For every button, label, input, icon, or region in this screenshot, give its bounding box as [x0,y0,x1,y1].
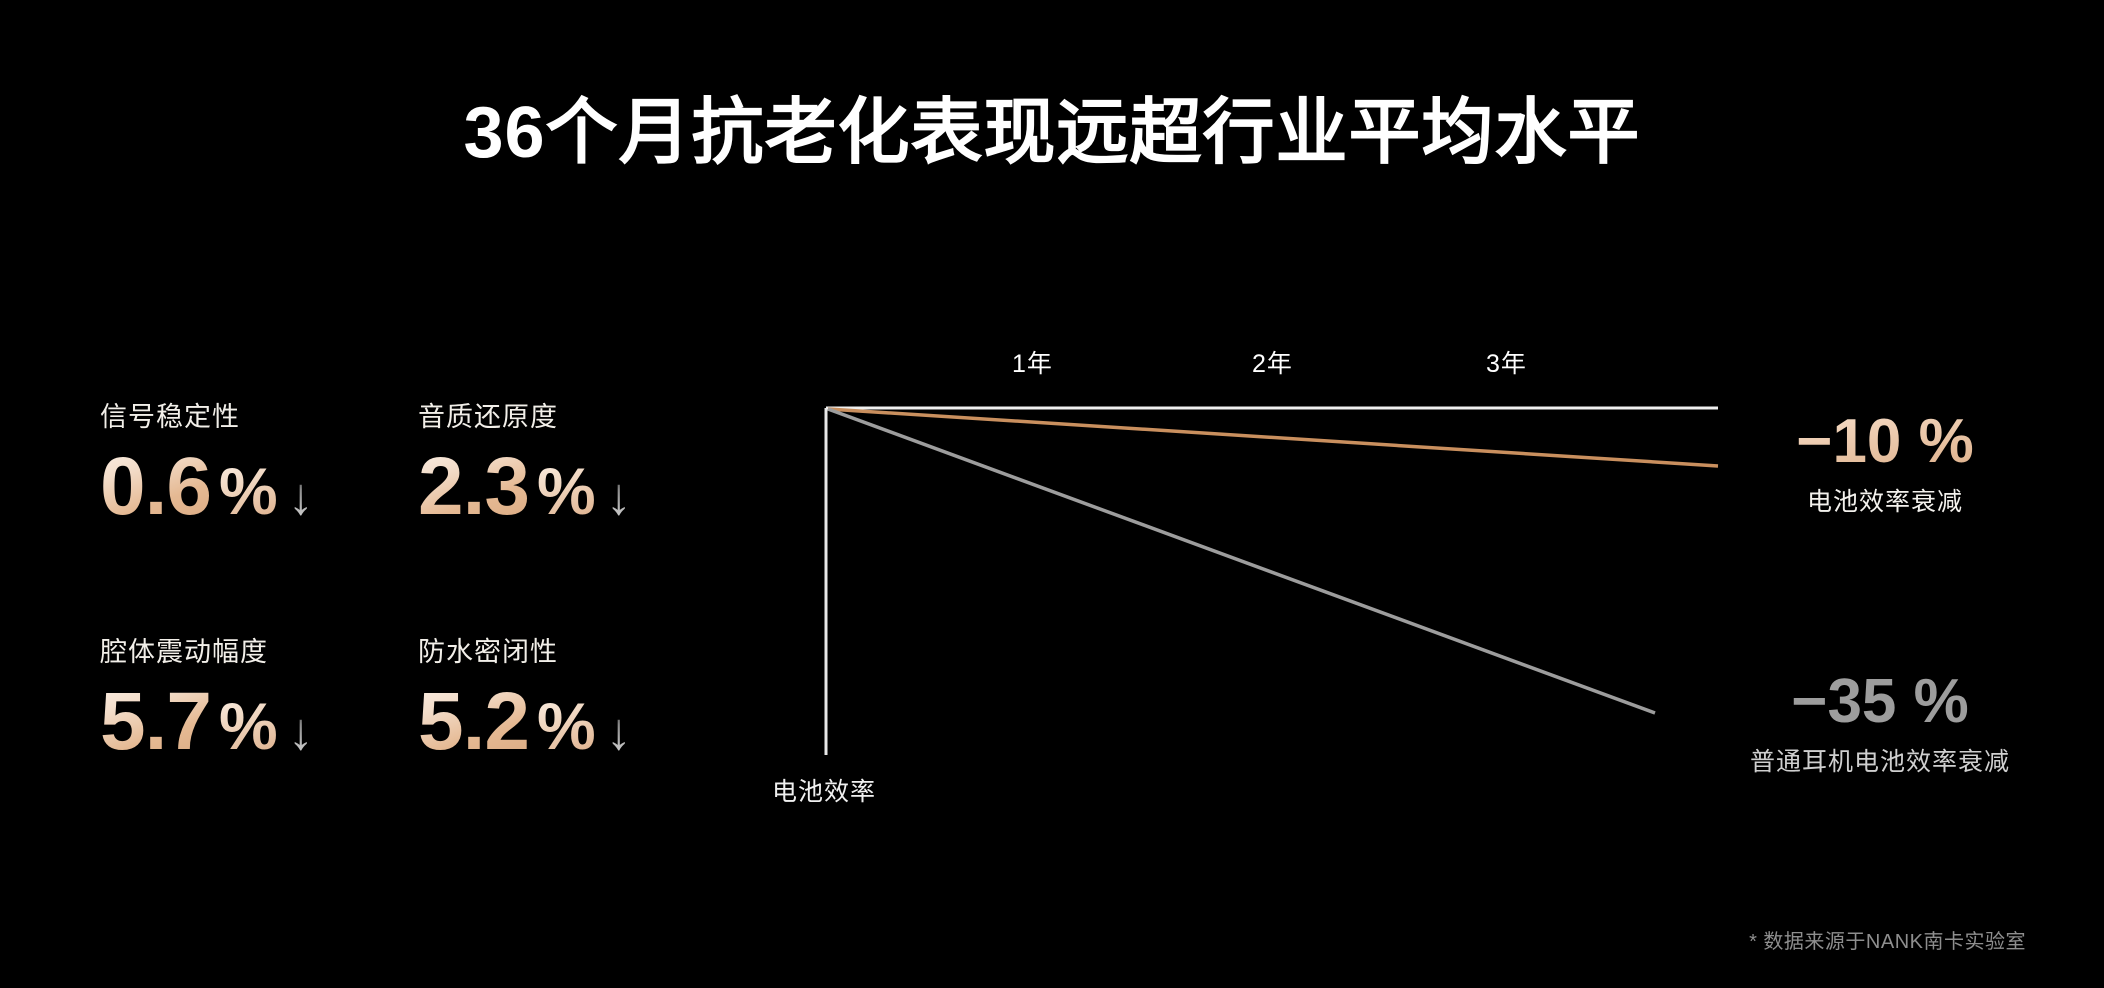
metric-number: 5.7 [100,675,211,769]
x-tick-year-3: 3年 [1486,344,1527,380]
y-axis-label: 电池效率 [772,772,876,808]
metric-number: 2.3 [418,440,529,534]
callout-caption: 普通耳机电池效率衰减 [1670,742,2090,778]
x-tick-year-1: 1年 [1012,344,1053,380]
callout-value: −35 % [1670,668,2090,736]
metric-value: 2.3 % ↓ [418,440,736,534]
metric-audio-fidelity: 音质还原度 2.3 % ↓ [418,395,736,565]
metric-label: 腔体震动幅度 [100,630,418,669]
metric-label: 防水密闭性 [418,630,736,669]
percent-sign: % [537,453,596,529]
metric-label: 信号稳定性 [100,395,418,434]
percent-sign: % [219,453,278,529]
arrow-down-icon: ↓ [606,471,632,523]
metrics-grid: 信号稳定性 0.6 % ↓ 音质还原度 2.3 % ↓ 腔体震动幅度 5.7 %… [100,395,660,800]
battery-decay-chart: 1年 2年 3年 [760,330,1820,800]
metric-number: 5.2 [418,675,529,769]
metric-cavity-vibration: 腔体震动幅度 5.7 % ↓ [100,630,418,800]
chart-svg [760,330,1820,800]
metric-value: 5.7 % ↓ [100,675,418,769]
slide-root: 36个月抗老化表现远超行业平均水平 信号稳定性 0.6 % ↓ 音质还原度 2.… [0,0,2104,988]
percent-sign: % [219,688,278,764]
x-tick-year-2: 2年 [1252,344,1293,380]
callout-value: −10 % [1735,408,2035,476]
callout-caption: 电池效率衰减 [1735,482,2035,518]
metric-value: 5.2 % ↓ [418,675,736,769]
arrow-down-icon: ↓ [288,706,314,758]
arrow-down-icon: ↓ [606,706,632,758]
page-title: 36个月抗老化表现远超行业平均水平 [0,94,2104,173]
callout-generic-decay: −35 % 普通耳机电池效率衰减 [1670,668,2090,778]
metric-label: 音质还原度 [418,395,736,434]
metric-signal-stability: 信号稳定性 0.6 % ↓ [100,395,418,565]
metric-waterproof-seal: 防水密闭性 5.2 % ↓ [418,630,736,800]
percent-sign: % [537,688,596,764]
metric-number: 0.6 [100,440,211,534]
metric-value: 0.6 % ↓ [100,440,418,534]
arrow-down-icon: ↓ [288,471,314,523]
callout-nank-decay: −10 % 电池效率衰减 [1735,408,2035,518]
footnote-source: * 数据来源于NANK南卡实验室 [1749,925,2026,954]
